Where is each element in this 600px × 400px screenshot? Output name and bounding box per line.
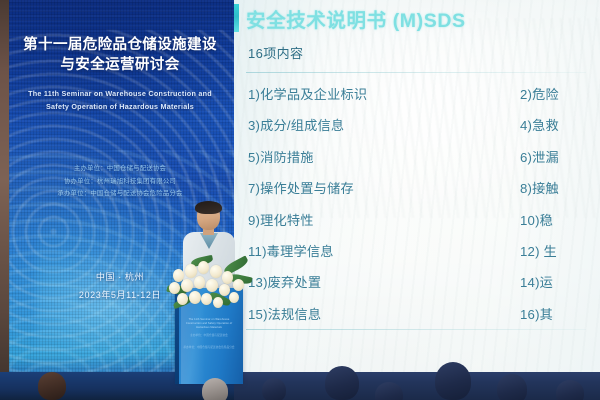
slide-item-row: 9)理化特性 10)稳: [232, 204, 600, 235]
slide-item-row: 3)成分/组成信息 4)急救: [232, 109, 600, 140]
projection-screen: 安全技术说明书 (M)SDS 16项内容 1)化学品及企业标识 2)危险 3)成…: [232, 0, 600, 372]
banner-title-chinese: 第十一届危险品仓储设施建设 与安全运营研讨会: [6, 35, 234, 75]
slide-item-14: 14)运: [520, 272, 553, 291]
flower-petal: [181, 279, 193, 292]
audience-head: [202, 378, 228, 400]
banner-title-english: The 11th Seminar on Warehouse Constructi…: [6, 87, 234, 113]
slide-item-row: 15)法规信息 16)其: [232, 298, 600, 329]
slide-item-row: 1)化学品及企业标识 2)危险: [232, 78, 600, 109]
slide-item-3: 3)成分/组成信息: [248, 115, 344, 134]
slide-item-6: 6)泄漏: [520, 147, 559, 166]
slide-item-13: 13)废弃处置: [248, 272, 321, 291]
slide-item-row: 5)消防措施 6)泄漏: [232, 141, 600, 172]
slide-item-12: 12) 生: [520, 241, 557, 260]
slide-item-row: 11)毒理学信息 12) 生: [232, 235, 600, 266]
slide-item-2: 2)危险: [520, 84, 559, 103]
banner-title-en-line2: Safety Operation of Hazardous Materials: [20, 100, 220, 113]
flower-petal: [222, 271, 233, 284]
flower-petal: [206, 279, 218, 292]
slide-item-9: 9)理化特性: [248, 210, 314, 229]
flower-petal: [185, 264, 197, 278]
flower-petal: [213, 297, 223, 308]
audience-head: [497, 374, 527, 400]
speaker-hair: [195, 201, 222, 214]
slide-accent-bar: [234, 4, 239, 32]
presentation-slide: 安全技术说明书 (M)SDS 16项内容 1)化学品及企业标识 2)危险 3)成…: [232, 0, 600, 372]
flower-arrangement: [165, 255, 257, 313]
slide-item-10: 10)稳: [520, 210, 553, 229]
banner-organizer-organizer: 承办单位：中国仓储与配送协会危险品分会: [6, 188, 234, 201]
flower-petal: [201, 293, 212, 305]
banner-organizers: 主办单位：中国仓储与配送协会 协办单位：杭州瑞旭科技集团有限公司 承办单位：中国…: [6, 163, 234, 201]
slide-item-15: 15)法规信息: [248, 304, 321, 323]
slide-item-row: 7)操作处置与储存 8)接触: [232, 172, 600, 203]
slide-item-list: 1)化学品及企业标识 2)危险 3)成分/组成信息 4)急救 5)消防措施 6)…: [232, 78, 600, 329]
flower-petal: [177, 293, 188, 305]
flower-petal: [233, 279, 244, 291]
flower-petal: [210, 265, 222, 278]
slide-item-7: 7)操作处置与储存: [248, 178, 354, 197]
slide-item-8: 8)接触: [520, 178, 559, 197]
banner-organizer-cohost: 协办单位：杭州瑞旭科技集团有限公司: [6, 176, 234, 189]
podium-text-line1: The 11th Seminar on Warehouse Constructi…: [183, 318, 235, 330]
conference-photo: 第十一届危险品仓储设施建设 与安全运营研讨会 The 11th Seminar …: [0, 0, 600, 400]
audience-head: [38, 372, 66, 400]
audience-head: [325, 366, 359, 400]
audience-head: [556, 380, 584, 400]
slide-item-5: 5)消防措施: [248, 147, 314, 166]
slide-item-1: 1)化学品及企业标识: [248, 84, 367, 103]
banner-title-cn-line1: 第十一届危险品仓储设施建设: [14, 35, 226, 55]
podium-text-line2: 主办单位：中国仓储与配送协会: [183, 334, 235, 338]
flower-petal: [198, 261, 209, 274]
slide-item-4: 4)急救: [520, 115, 559, 134]
slide-item-row: 13)废弃处置 14)运: [232, 266, 600, 297]
flower-petal: [229, 292, 239, 303]
slide-item-16: 16)其: [520, 304, 553, 323]
audience-head: [435, 362, 471, 400]
banner-title-en-line1: The 11th Seminar on Warehouse Constructi…: [20, 87, 220, 100]
slide-subtitle: 16项内容: [248, 43, 303, 62]
podium-text-line3: 承办单位：中国仓储与配送协会危险品分会: [183, 346, 235, 350]
banner-organizer-host: 主办单位：中国仓储与配送协会: [6, 163, 234, 176]
slide-title: 安全技术说明书 (M)SDS: [246, 4, 466, 33]
slide-item-11: 11)毒理学信息: [248, 241, 334, 260]
banner-title-cn-line2: 与安全运营研讨会: [14, 55, 226, 75]
slide-divider-top: [246, 72, 586, 73]
wall-stripe: [0, 0, 9, 400]
flower-petal: [219, 284, 230, 296]
slide-divider-bottom: [246, 329, 586, 330]
flower-petal: [169, 282, 180, 294]
flower-petal: [194, 276, 205, 289]
audience-head: [262, 378, 286, 400]
flower-petal: [189, 291, 201, 304]
